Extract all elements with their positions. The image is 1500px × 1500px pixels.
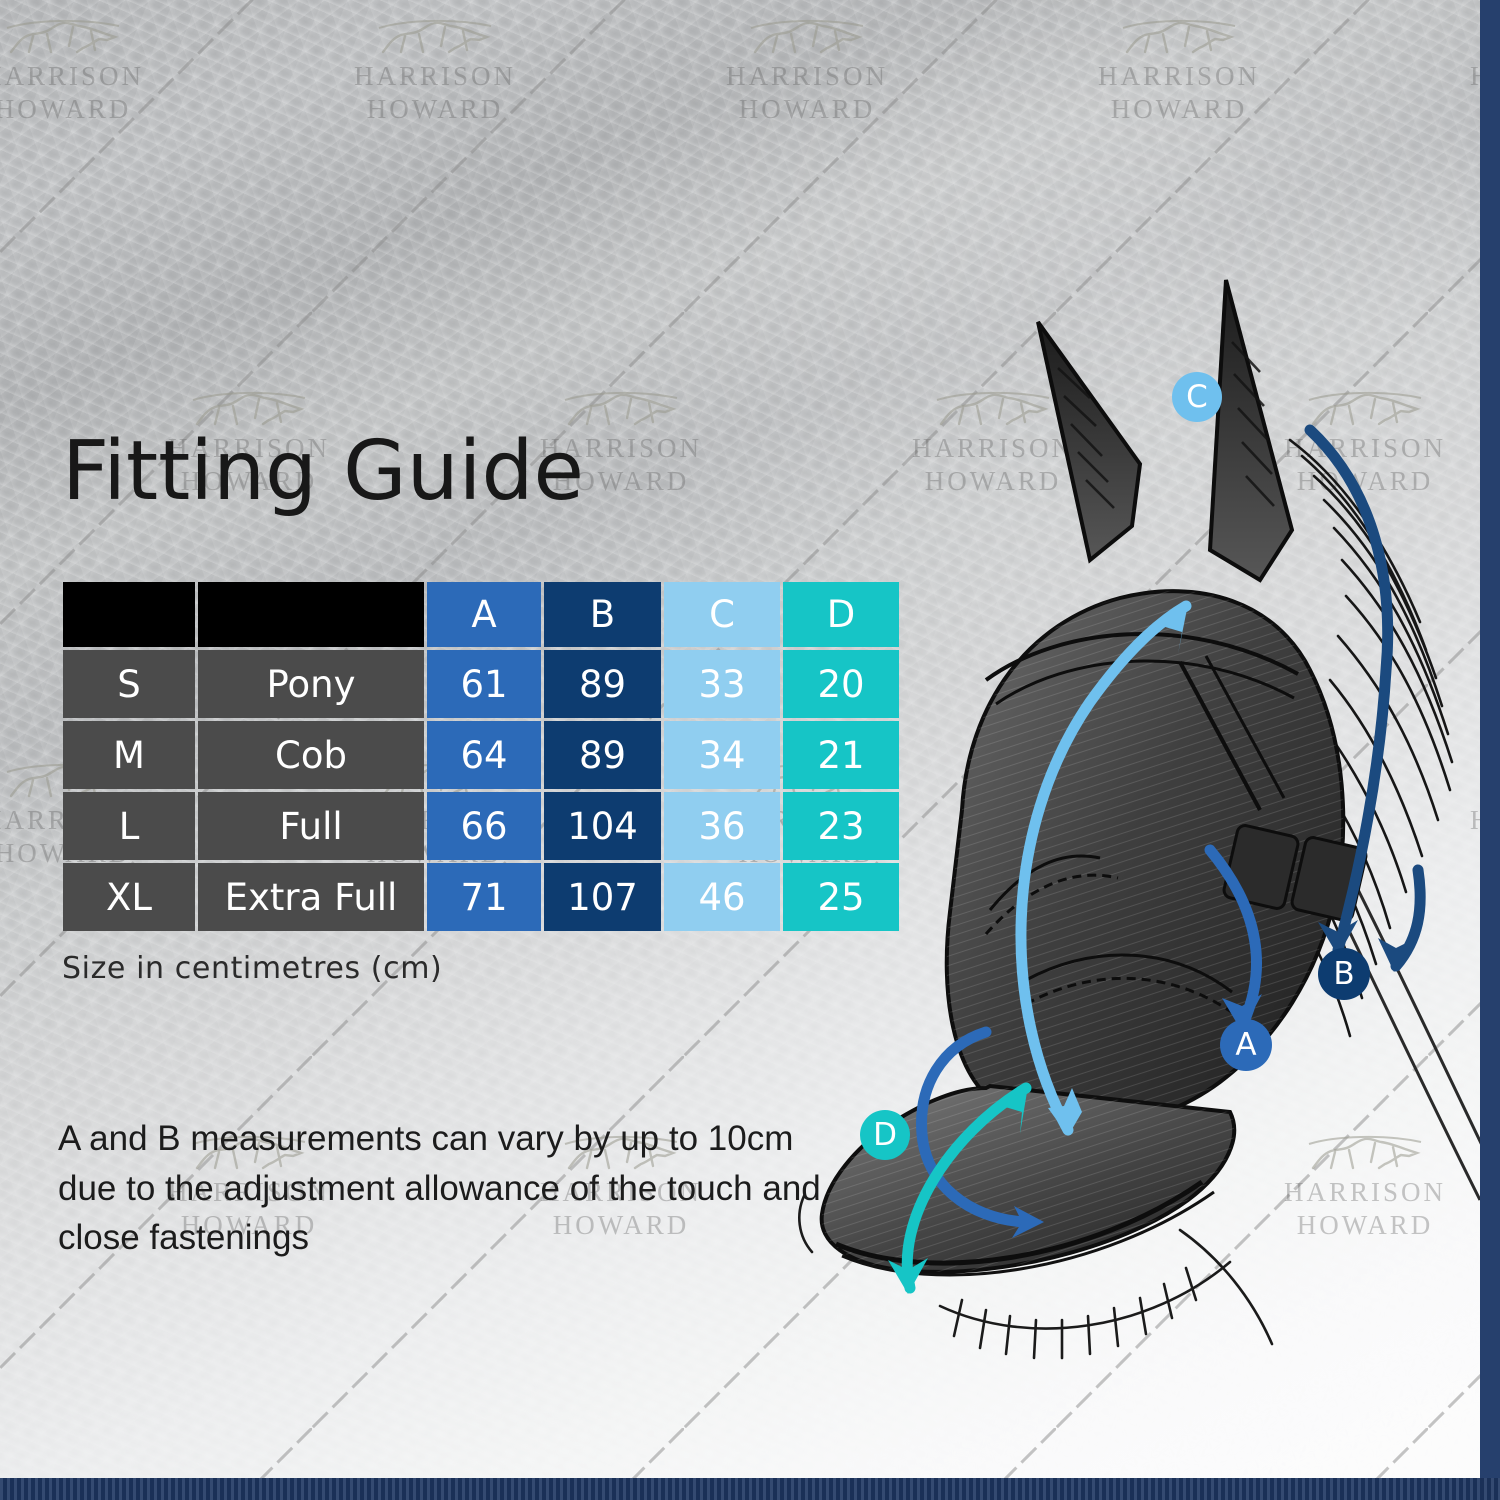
row-size: XL (63, 863, 195, 931)
watermark-line1: HARRISON (726, 61, 888, 91)
header-blank-name (198, 582, 424, 647)
fitting-note: A and B measurements can vary by up to 1… (58, 1114, 848, 1263)
row-value-b: 89 (544, 721, 661, 789)
horse-logo-icon (373, 18, 497, 58)
frame-border-bottom-texture (0, 1478, 1500, 1500)
size-chart-table: A B C D S Pony 61 89 33 20 M Cob 64 89 3… (60, 579, 902, 934)
row-size: L (63, 792, 195, 860)
row-value-a: 61 (427, 650, 541, 718)
row-value-c: 36 (664, 792, 780, 860)
row-name: Full (198, 792, 424, 860)
table-row: XL Extra Full 71 107 46 25 (63, 863, 899, 931)
horse-logo-icon (1, 18, 125, 58)
marker-badge-d: D (860, 1110, 910, 1160)
row-value-b: 89 (544, 650, 661, 718)
row-value-c: 33 (664, 650, 780, 718)
frame-border-right (1480, 0, 1500, 1500)
horse-logo-icon (1117, 18, 1241, 58)
row-value-a: 64 (427, 721, 541, 789)
row-size: S (63, 650, 195, 718)
row-size: M (63, 721, 195, 789)
row-value-b: 107 (544, 863, 661, 931)
watermark-line2: HOWARD (310, 93, 560, 126)
row-value-c: 34 (664, 721, 780, 789)
header-a: A (427, 582, 541, 647)
watermark-line2: HOWARD (0, 93, 188, 126)
table-row: L Full 66 104 36 23 (63, 792, 899, 860)
watermark-line2: HOWARD (1054, 93, 1304, 126)
size-chart-header: A B C D (63, 582, 899, 647)
header-d: D (783, 582, 899, 647)
horse-ears (1038, 280, 1292, 580)
watermark-line1: HARRISON (0, 61, 144, 91)
row-value-d: 20 (783, 650, 899, 718)
table-caption: Size in centimetres (cm) (62, 951, 442, 986)
fly-mask-body (947, 591, 1368, 1127)
table-row: S Pony 61 89 33 20 (63, 650, 899, 718)
table-row: M Cob 64 89 34 21 (63, 721, 899, 789)
row-value-c: 46 (664, 863, 780, 931)
watermark-line1: HARRISON (1098, 61, 1260, 91)
row-value-d: 25 (783, 863, 899, 931)
header-b: B (544, 582, 661, 647)
watermark-line2: HOWARD (682, 93, 932, 126)
fitting-guide-page: HARRISON HOWARD HARRISON HOWARD HARRISON… (0, 0, 1500, 1500)
marker-badge-b: B (1318, 948, 1370, 1000)
header-blank-size (63, 582, 195, 647)
horse-neck-line-2 (1338, 850, 1490, 1162)
row-value-a: 71 (427, 863, 541, 931)
row-name: Pony (198, 650, 424, 718)
watermark-line2: HOWARD (0, 1209, 2, 1242)
size-chart-body: S Pony 61 89 33 20 M Cob 64 89 34 21 L F… (63, 650, 899, 931)
watermark-line2: HOWARD (0, 465, 2, 498)
row-value-b: 104 (544, 792, 661, 860)
page-title: Fitting Guide (62, 424, 584, 519)
header-c: C (664, 582, 780, 647)
row-name: Cob (198, 721, 424, 789)
row-value-d: 23 (783, 792, 899, 860)
watermark-line1: HARRISON (354, 61, 516, 91)
marker-badge-c: C (1172, 372, 1222, 422)
table-header-row: A B C D (63, 582, 899, 647)
horse-logo-icon (745, 18, 869, 58)
row-name: Extra Full (198, 863, 424, 931)
marker-badge-a: A (1220, 1019, 1272, 1071)
row-value-a: 66 (427, 792, 541, 860)
row-value-d: 21 (783, 721, 899, 789)
